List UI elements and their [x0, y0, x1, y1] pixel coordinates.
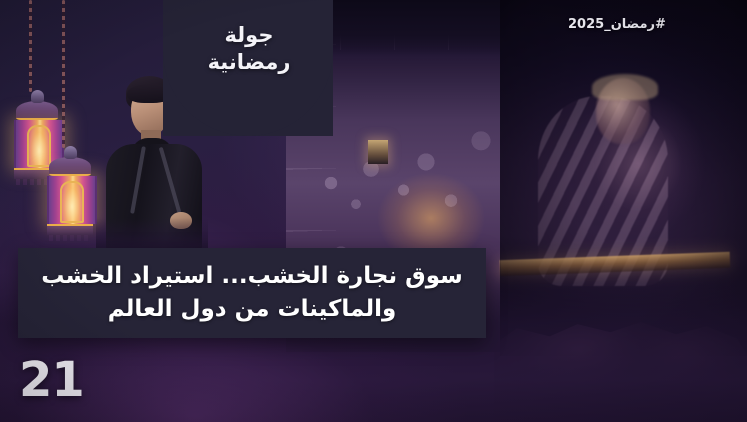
headline-line-2: والماكينات من دول العالم — [108, 296, 397, 322]
headline-text: سوق نجارة الخشب... استيراد الخشب والماكي… — [18, 260, 486, 325]
lantern-fringe — [49, 235, 91, 241]
headline-line-1: سوق نجارة الخشب... استيراد الخشب — [41, 263, 462, 289]
program-title-line-1: جولة — [170, 22, 328, 49]
program-hashtag: #رمضان_2025 — [568, 17, 666, 32]
lantern-cap — [31, 90, 44, 103]
headline-banner: سوق نجارة الخشب... استيراد الخشب والماكي… — [18, 248, 486, 338]
lantern-body — [47, 176, 97, 224]
broadcast-frame: جولة رمضانية #رمضان_2025 سوق نجارة الخشب… — [0, 0, 747, 422]
program-title-line-2: رمضانية — [170, 49, 328, 76]
lantern-dome — [16, 101, 58, 120]
ramadan-lantern-icon — [47, 146, 93, 241]
lantern-dome — [49, 157, 91, 176]
lantern-chain-bottom — [62, 0, 65, 148]
lantern-base — [47, 224, 93, 235]
lantern-arch-glow — [60, 181, 84, 223]
lantern-chain-top — [29, 0, 32, 92]
lantern-decorations — [0, 0, 110, 220]
program-title: جولة رمضانية — [170, 22, 328, 77]
lantern-cap — [64, 146, 77, 159]
episode-number: 21 — [19, 356, 84, 404]
